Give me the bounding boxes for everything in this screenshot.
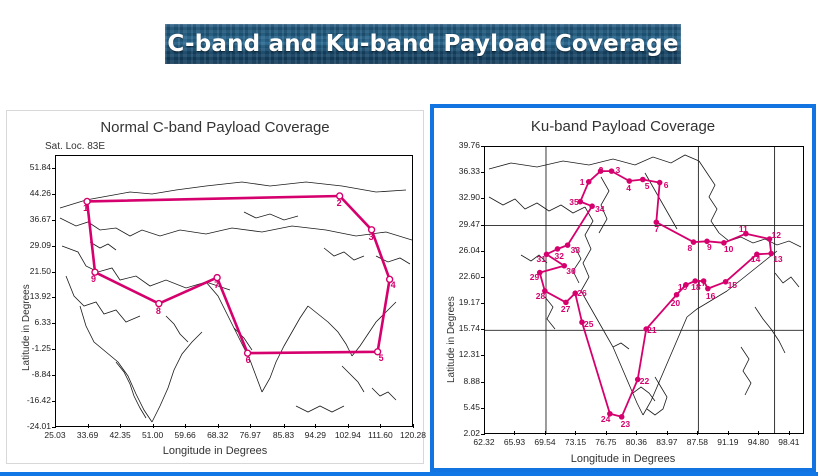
coastline-path [372,388,396,400]
coastline-path [80,306,152,422]
page-root: C-band and Ku-band Payload Coverage Norm… [0,0,818,476]
y-tick-label: 13.92 [11,291,51,301]
x-tick-label: 51.00 [136,430,170,440]
coastline-path [262,306,308,392]
coastline-path [581,291,643,415]
data-point-marker [590,204,594,208]
x-tick-label: 76.75 [589,437,623,447]
point-label-8: 8 [687,243,692,253]
coastline-path [613,343,629,349]
y-tick-label: 5.45 [440,402,480,412]
y-tick-mark [52,220,56,221]
point-label-1: 1 [83,203,88,213]
x-tick-mark [789,431,790,435]
data-point-marker [565,243,569,247]
x-tick-mark [514,431,515,435]
x-tick-label: 111.60 [363,430,397,440]
coastline-path [324,248,364,260]
c-band-plot-svg [56,156,413,427]
coastline-path [699,161,719,233]
data-point-marker [657,180,661,184]
point-label-4: 4 [391,280,396,290]
y-tick-label: 21.50 [11,266,51,276]
x-tick-mark [218,424,219,428]
y-tick-label: -16.42 [11,395,51,405]
y-tick-mark [481,225,485,226]
x-tick-label: 68.32 [201,430,235,440]
x-tick-label: 69.54 [528,437,562,447]
point-label-10: 10 [724,244,733,254]
y-tick-label: 22.60 [440,271,480,281]
x-tick-mark [185,424,186,428]
x-tick-mark [250,424,251,428]
x-tick-mark [380,424,381,428]
coastline-path [90,242,116,250]
x-tick-label: 87.58 [680,437,714,447]
point-label-27: 27 [561,304,570,314]
y-tick-mark [481,303,485,304]
point-label-28: 28 [536,291,545,301]
ku-band-y-axis-label: Latitude in Degrees [446,296,457,383]
ku-band-chart-title: Ku-band Payload Coverage [434,118,812,135]
x-tick-mark [667,431,668,435]
x-tick-mark [636,431,637,435]
y-tick-mark [481,277,485,278]
x-tick-mark [120,424,121,428]
point-label-7: 7 [214,280,219,290]
point-label-3: 3 [369,232,374,242]
coastline-path [66,276,140,322]
y-tick-mark [481,355,485,356]
y-tick-mark [52,297,56,298]
coastline-path [545,297,555,329]
point-label-35: 35 [569,197,578,207]
point-label-25: 25 [584,319,593,329]
y-tick-label: 39.76 [440,140,480,150]
y-tick-mark [481,382,485,383]
x-tick-label: 33.69 [71,430,105,440]
point-label-32: 32 [554,251,563,261]
y-tick-mark [52,401,56,402]
point-label-31: 31 [536,254,545,264]
y-tick-mark [481,408,485,409]
coastline-path [352,302,396,356]
y-tick-mark [52,168,56,169]
x-tick-label: 94.80 [741,437,775,447]
point-label-22: 22 [640,376,649,386]
x-tick-label: 76.97 [233,430,267,440]
y-tick-mark [52,194,56,195]
c-band-chart-title: Normal C-band Payload Coverage [7,119,423,136]
y-tick-label: 36.33 [440,166,480,176]
coastline-path [244,212,298,220]
y-tick-label: 29.09 [11,240,51,250]
coastline-path [60,218,412,240]
x-tick-label: 98.41 [772,437,806,447]
coastline-path [206,282,262,392]
y-tick-mark [52,349,56,350]
y-tick-label: 29.47 [440,219,480,229]
coastline-path [308,306,352,356]
y-tick-label: 6.33 [11,317,51,327]
x-tick-mark [484,431,485,435]
x-tick-label: 91.19 [711,437,745,447]
y-tick-label: 12.31 [440,349,480,359]
banner-title: C-band and Ku-band Payload Coverage [165,24,681,64]
y-tick-mark [52,246,56,247]
point-label-26: 26 [577,288,586,298]
y-tick-label: 36.67 [11,214,51,224]
y-tick-mark [481,329,485,330]
point-label-34: 34 [595,204,604,214]
c-band-x-axis-label: Longitude in Degrees [7,445,423,457]
coastline-path [647,377,667,415]
ku-band-x-axis-label: Longitude in Degrees [434,453,812,465]
point-label-5: 5 [645,181,650,191]
x-tick-mark [348,424,349,428]
y-tick-label: 32.90 [440,192,480,202]
point-label-24: 24 [601,414,610,424]
x-tick-label: 94.29 [298,430,332,440]
point-label-9: 9 [91,274,96,284]
point-label-5: 5 [379,353,384,363]
coastline-path [741,347,751,395]
coastline-path [296,406,344,412]
point-label-33: 33 [571,245,580,255]
data-point-marker [587,180,591,184]
c-band-chart-panel: Normal C-band Payload Coverage Sat. Loc.… [6,110,424,464]
point-label-20: 20 [671,298,680,308]
y-tick-mark [52,375,56,376]
title-banner: C-band and Ku-band Payload Coverage [165,24,681,64]
x-tick-mark [284,424,285,428]
y-tick-label: 51.84 [11,162,51,172]
x-tick-mark [697,431,698,435]
point-label-4: 4 [626,183,631,193]
x-tick-mark [606,431,607,435]
point-label-19: 19 [678,282,687,292]
x-tick-label: 83.97 [650,437,684,447]
point-label-23: 23 [621,419,630,429]
x-tick-label: 102.94 [331,430,365,440]
point-label-16: 16 [706,291,715,301]
y-tick-label: 8.88 [440,376,480,386]
x-tick-label: 62.32 [467,437,501,447]
y-tick-mark [481,146,485,147]
point-label-1: 1 [580,177,585,187]
x-tick-mark [545,431,546,435]
x-tick-mark [88,424,89,428]
ku-band-chart-panel: Ku-band Payload Coverage Latitude in Deg… [430,104,816,472]
x-tick-label: 59.66 [168,430,202,440]
point-label-8: 8 [156,306,161,316]
coastline-path [116,362,146,418]
point-label-2: 2 [337,198,342,208]
point-label-11: 11 [739,224,748,234]
coastline-path [775,273,799,287]
y-tick-label: -8.84 [11,369,51,379]
x-tick-label: 120.28 [396,430,430,440]
point-label-21: 21 [647,325,656,335]
x-tick-mark [55,424,56,428]
point-label-3: 3 [616,165,621,175]
point-label-14: 14 [751,254,760,264]
point-label-6: 6 [246,355,251,365]
c-band-satellite-location: Sat. Loc. 83E [45,141,105,152]
y-tick-mark [52,272,56,273]
point-label-2: 2 [599,165,604,175]
data-point-marker [674,293,678,297]
coastline-path [60,182,406,208]
x-tick-mark [728,431,729,435]
y-tick-mark [481,198,485,199]
bottom-accent-bar [0,472,818,476]
y-tick-mark [481,251,485,252]
y-tick-mark [481,172,485,173]
y-tick-label: 26.04 [440,245,480,255]
x-tick-label: 65.93 [497,437,531,447]
coverage-polygon [87,196,390,353]
coastline-path [489,155,699,169]
x-tick-mark [758,431,759,435]
y-tick-label: 44.26 [11,188,51,198]
coastline-path [152,332,202,422]
data-point-marker [609,169,613,173]
y-tick-label: 15.74 [440,323,480,333]
x-tick-mark [153,424,154,428]
point-label-12: 12 [772,230,781,240]
point-label-9: 9 [707,242,712,252]
x-tick-label: 25.03 [38,430,72,440]
point-label-13: 13 [773,254,782,264]
x-tick-label: 42.35 [103,430,137,440]
x-tick-label: 73.15 [558,437,592,447]
point-label-7: 7 [654,224,659,234]
x-tick-label: 80.36 [619,437,653,447]
c-band-plot-area[interactable] [55,155,413,427]
x-tick-mark [413,424,414,428]
point-label-6: 6 [664,180,669,190]
y-tick-label: -1.25 [11,343,51,353]
coastline-path [166,316,188,342]
coastline-path [342,366,364,392]
point-label-18: 18 [691,282,700,292]
y-tick-label: 19.17 [440,297,480,307]
point-label-29: 29 [530,272,539,282]
x-tick-mark [315,424,316,428]
point-label-30: 30 [566,266,575,276]
point-label-15: 15 [728,280,737,290]
x-tick-mark [575,431,576,435]
y-tick-mark [52,323,56,324]
x-tick-label: 85.83 [267,430,301,440]
